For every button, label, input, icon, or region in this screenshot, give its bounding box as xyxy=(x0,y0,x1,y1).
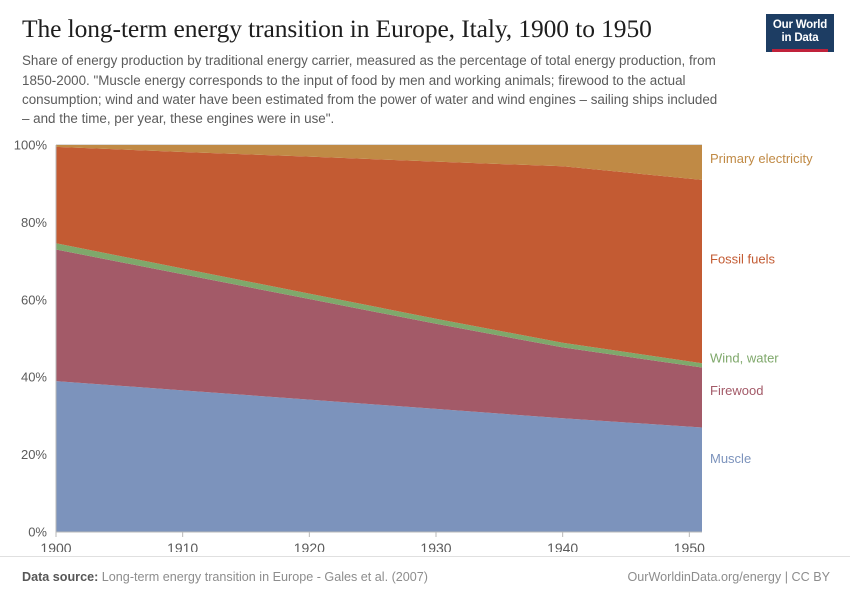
series-legend-labels: Primary electricityFossil fuelsWind, wat… xyxy=(710,151,813,466)
data-source-label: Data source: xyxy=(22,570,98,584)
chart-footer: Data source: Long-term energy transition… xyxy=(0,556,850,600)
chart-area: 0%20%40%60%80%100% 190019101920193019401… xyxy=(0,137,850,552)
x-axis-tick-label: 1940 xyxy=(547,540,578,552)
x-axis-tick-label: 1920 xyxy=(294,540,325,552)
y-axis-tick-labels: 0%20%40%60%80%100% xyxy=(14,137,48,539)
y-axis-tick-label: 0% xyxy=(28,524,47,539)
owid-logo[interactable]: Our World in Data xyxy=(766,14,834,52)
x-axis-tick-label: 1910 xyxy=(167,540,198,552)
x-axis-tick-label: 1900 xyxy=(40,540,71,552)
owid-logo-line1: Our World xyxy=(772,19,828,32)
series-label-primary-electricity[interactable]: Primary electricity xyxy=(710,151,813,166)
data-source-text: Long-term energy transition in Europe - … xyxy=(102,570,428,584)
chart-header: The long-term energy transition in Europ… xyxy=(0,0,850,129)
page-title: The long-term energy transition in Europ… xyxy=(22,14,752,43)
y-axis-tick-label: 60% xyxy=(21,292,47,307)
chart-subtitle: Share of energy production by traditiona… xyxy=(22,51,727,128)
owid-logo-rule xyxy=(772,49,828,52)
x-axis-tick-labels: 190019101920193019401950 xyxy=(40,540,705,552)
area-series-layer[interactable] xyxy=(56,145,702,532)
attribution-link[interactable]: OurWorldinData.org/energy | CC BY xyxy=(627,570,830,584)
series-label-fossil-fuels[interactable]: Fossil fuels xyxy=(710,251,776,266)
owid-logo-line2: in Data xyxy=(772,32,828,45)
x-axis-tick-label: 1950 xyxy=(674,540,705,552)
y-axis-tick-label: 40% xyxy=(21,369,47,384)
stacked-area-chart[interactable]: 0%20%40%60%80%100% 190019101920193019401… xyxy=(0,137,850,552)
chart-page: The long-term energy transition in Europ… xyxy=(0,0,850,600)
data-source: Data source: Long-term energy transition… xyxy=(22,570,428,584)
series-label-firewood[interactable]: Firewood xyxy=(710,383,763,398)
y-axis-tick-label: 100% xyxy=(14,137,48,152)
series-label-muscle[interactable]: Muscle xyxy=(710,450,751,465)
x-axis-tick-label: 1930 xyxy=(420,540,451,552)
y-axis-tick-label: 20% xyxy=(21,447,47,462)
series-label-wind-water[interactable]: Wind, water xyxy=(710,350,779,365)
y-axis-tick-label: 80% xyxy=(21,214,47,229)
